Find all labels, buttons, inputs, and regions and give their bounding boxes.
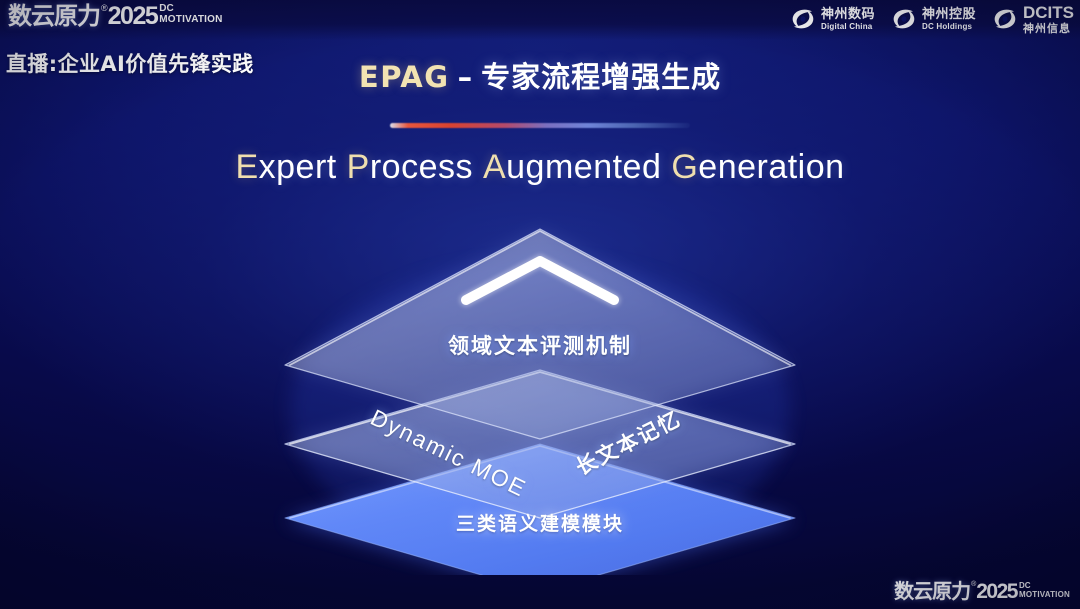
partner-label: 神州控股 DC Holdings — [922, 8, 976, 31]
subtitle-rest-expert: xpert — [259, 148, 337, 186]
live-session-label: 直播:企业AI价值先锋实践 — [6, 48, 254, 78]
partner-name-cn: 神州信息 — [1023, 23, 1074, 34]
watermark-tagline: DC MOTIVATION — [1019, 582, 1070, 599]
watermark-dc: DC — [1019, 582, 1070, 590]
subtitle-rest-generation: eneration — [698, 148, 844, 186]
swirl-icon — [891, 7, 917, 31]
partner-logo-dc-holdings: 神州控股 DC Holdings — [891, 7, 976, 31]
registered-mark-icon: ® — [101, 2, 108, 14]
partner-name-en: DCITS — [1023, 4, 1074, 21]
partner-name-cn: 神州数码 — [821, 8, 875, 21]
title-divider — [390, 123, 690, 128]
subtitle-cap-g: G — [671, 148, 698, 186]
brand-dc: DC — [159, 4, 222, 14]
subtitle-rest-process: rocess — [370, 148, 473, 186]
layer-stack-diagram — [268, 215, 812, 575]
partner-logo-row: 神州数码 Digital China 神州控股 DC Holdings — [790, 4, 1074, 34]
subtitle-cap-p: P — [347, 148, 370, 186]
subtitle-rest-augmented: ugmented — [506, 148, 661, 186]
brand-name-cn: 数云原力 — [8, 2, 100, 30]
title-chinese: 专家流程增强生成 — [481, 60, 721, 94]
partner-name-en: Digital China — [821, 23, 875, 31]
partner-logo-digital-china: 神州数码 Digital China — [790, 7, 875, 31]
partner-label: DCITS 神州信息 — [1023, 4, 1074, 34]
watermark-logo: 数云原力 ® 2025 DC MOTIVATION — [894, 580, 1070, 603]
watermark-motivation: MOTIVATION — [1019, 590, 1070, 599]
watermark-year: 2025 — [976, 580, 1017, 603]
title-dash: – — [458, 60, 474, 94]
page-subtitle: Expert Process Augmented Generation — [0, 148, 1080, 187]
subtitle-cap-a: A — [483, 148, 506, 186]
brand-logo: 数云原力 ® 2025 DC MOTIVATION — [8, 2, 223, 30]
swirl-icon — [992, 7, 1018, 31]
partner-logo-dcits: DCITS 神州信息 — [992, 4, 1074, 34]
slide-canvas: 数云原力 ® 2025 DC MOTIVATION 直播:企业AI价值先锋实践 … — [0, 0, 1080, 609]
partner-name-en: DC Holdings — [922, 23, 976, 31]
partner-name-cn: 神州控股 — [922, 8, 976, 21]
swirl-icon — [790, 7, 816, 31]
watermark-name-cn: 数云原力 — [894, 580, 970, 603]
subtitle-cap-e: E — [235, 148, 258, 186]
title-acronym: EPAG — [359, 60, 450, 94]
brand-motivation: MOTIVATION — [159, 14, 222, 25]
brand-tagline: DC MOTIVATION — [159, 4, 222, 25]
partner-label: 神州数码 Digital China — [821, 8, 875, 31]
brand-year: 2025 — [108, 2, 158, 30]
